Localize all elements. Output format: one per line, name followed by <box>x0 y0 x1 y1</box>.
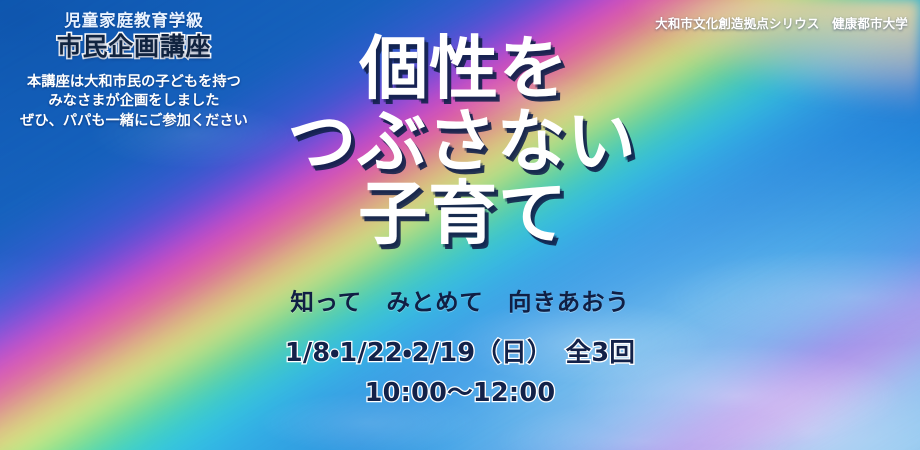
headline-line-1: 個性を <box>8 36 920 104</box>
organizer-credit: 大和市文化創造拠点シリウス 健康都市大学 <box>655 14 908 32</box>
main-headline: 個性を つぶさない 子育て <box>0 36 920 249</box>
schedule-block: 1/8・1/22・2/19（日） 全3回 10:00〜12:00 <box>0 332 920 409</box>
schedule-dates: 1/8・1/22・2/19（日） 全3回 <box>0 332 920 369</box>
headline-line-2: つぶさない <box>4 109 920 177</box>
schedule-time: 10:00〜12:00 <box>0 372 920 409</box>
poster-content: 児童家庭教育学級 市民企画講座 本講座は大和市民の子どもを持つ みなさまが企画を… <box>0 0 920 450</box>
sub-headline: 知って みとめて 向きあおう <box>0 283 920 317</box>
series-label: 児童家庭教育学級 <box>0 12 268 30</box>
poster-canvas: 児童家庭教育学級 市民企画講座 本講座は大和市民の子どもを持つ みなさまが企画を… <box>0 0 920 450</box>
headline-line-3: 子育て <box>6 181 920 249</box>
